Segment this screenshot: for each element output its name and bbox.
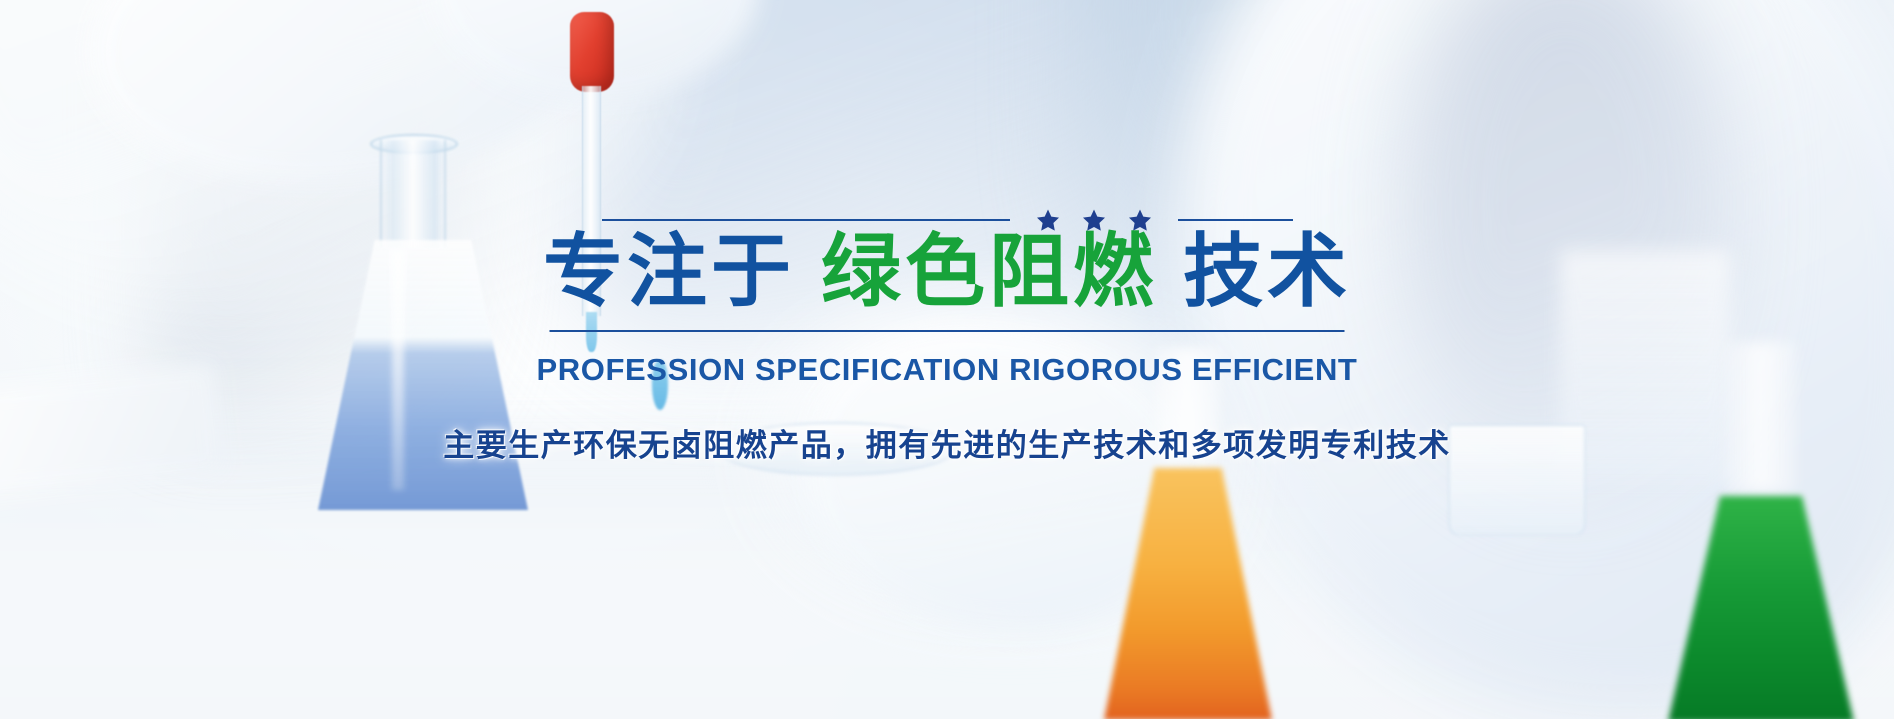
headline: 专注于绿色阻燃技术: [0, 232, 1894, 312]
divider-line-left: [602, 219, 1010, 221]
tagline: 主要生产环保无卤阻燃产品，拥有先进的生产技术和多项发明专利技术: [0, 420, 1894, 465]
headline-part-2: 绿色阻燃: [821, 227, 1157, 316]
divider-line-right: [1178, 219, 1293, 221]
subtitle: PROFESSION SPECIFICATION RIGOROUS EFFICI…: [0, 352, 1894, 388]
hero-banner: 专注于绿色阻燃技术 PROFESSION SPECIFICATION RIGOR…: [0, 0, 1894, 719]
headline-underline: [550, 330, 1345, 332]
headline-part-1: 专注于: [543, 227, 795, 316]
banner-content: 专注于绿色阻燃技术 PROFESSION SPECIFICATION RIGOR…: [0, 0, 1894, 719]
headline-part-3: 技术: [1183, 227, 1351, 316]
